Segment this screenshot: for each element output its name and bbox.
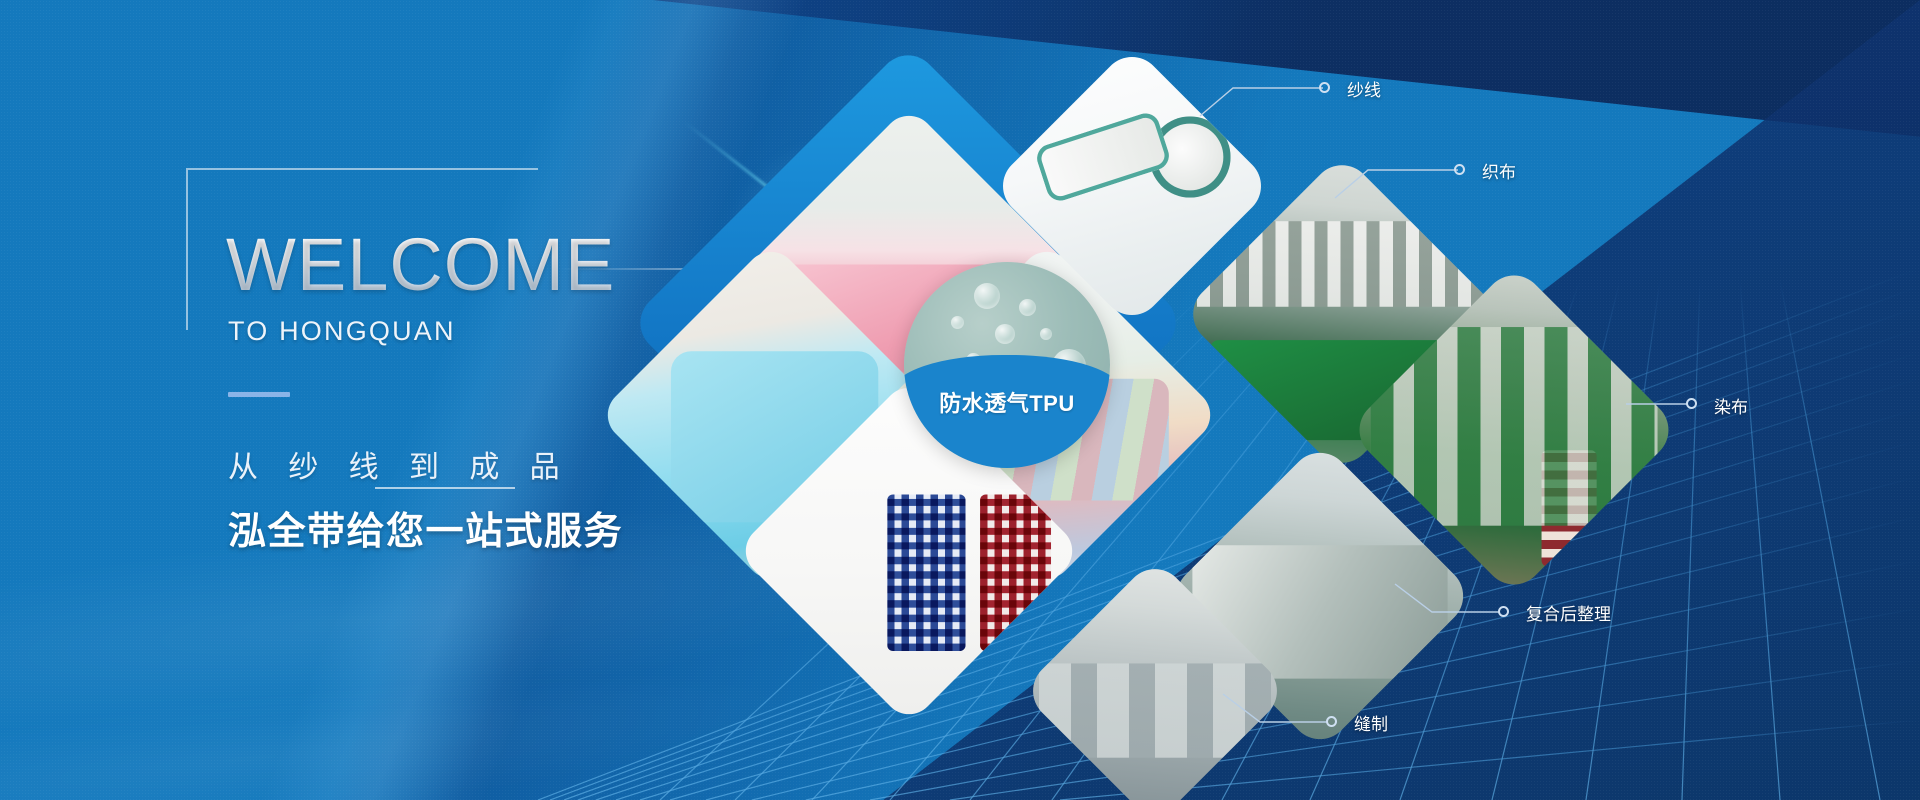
callout-dot-lamination [1498,606,1509,617]
callout-dyeing: 染布 [1626,392,1846,432]
callout-label-yarn: 纱线 [1347,76,1381,101]
callout-dot-weaving [1454,164,1465,175]
callout-dot-dyeing [1686,398,1697,409]
callout-label-lamination: 复合后整理 [1526,600,1611,625]
callout-weaving: 织布 [1330,142,1570,212]
hero-banner: WELCOME TO HONGQUAN 从 纱 线 到 成 品 泓全带给您一站式… [0,0,1920,800]
callout-dot-yarn [1319,82,1330,93]
callout-label-weaving: 织布 [1482,158,1516,183]
headline-welcome: WELCOME [226,228,615,302]
bottom-accent-rule [375,487,515,489]
callout-dot-sewing [1326,716,1337,727]
callout-yarn: 纱线 [1195,60,1435,130]
callout-label-sewing: 缝制 [1354,710,1388,735]
callout-lamination: 复合后整理 [1390,580,1690,650]
tagline-chinese: 从 纱 线 到 成 品 [228,442,571,486]
tpu-badge-label: 防水透气TPU [904,386,1110,418]
tpu-badge: 防水透气TPU [904,262,1110,468]
callout-label-dyeing: 染布 [1714,393,1748,418]
headline-chinese: 泓全带给您一站式服务 [228,500,623,555]
accent-rule [228,392,290,397]
callout-sewing: 缝制 [1218,690,1478,760]
subheadline-brand: TO HONGQUAN [228,318,456,345]
